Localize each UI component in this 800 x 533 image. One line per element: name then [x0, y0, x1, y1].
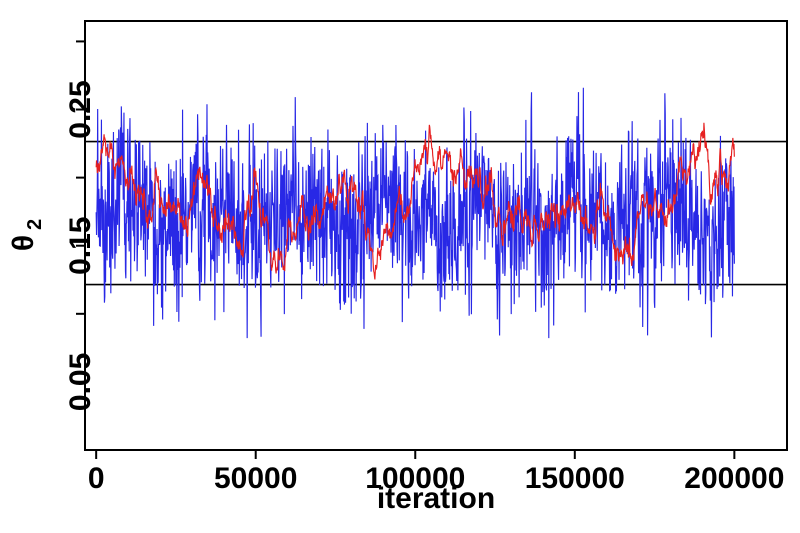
- y-tick-label-text: 0.25: [64, 80, 97, 138]
- y-axis-tick-labels: 0.050.150.25: [64, 80, 97, 411]
- series-chain-blue: [96, 88, 734, 338]
- y-tick-label: 0.05: [64, 353, 97, 411]
- y-axis-title: θ 2: [7, 219, 46, 251]
- y-axis-title-subscript: 2: [24, 219, 46, 230]
- y-tick-label-text: 0.05: [64, 353, 97, 411]
- x-tick-label: 0: [88, 462, 105, 495]
- x-tick-label: 150000: [525, 462, 625, 495]
- y-tick-label: 0.25: [64, 80, 97, 138]
- x-axis-title: iteration: [377, 482, 495, 515]
- x-axis-ticks: [96, 450, 734, 459]
- trace-plot-figure: 0.050.150.25 050000100000150000200000 θ …: [0, 0, 800, 533]
- series-group: [96, 88, 734, 338]
- y-tick-label-text: 0.15: [64, 217, 97, 275]
- y-axis-title-base: θ: [7, 235, 40, 251]
- x-tick-label: 50000: [214, 462, 297, 495]
- plot-svg: 0.050.150.25 050000100000150000200000 θ …: [0, 0, 800, 533]
- x-tick-label: 200000: [684, 462, 784, 495]
- y-tick-label: 0.15: [64, 217, 97, 275]
